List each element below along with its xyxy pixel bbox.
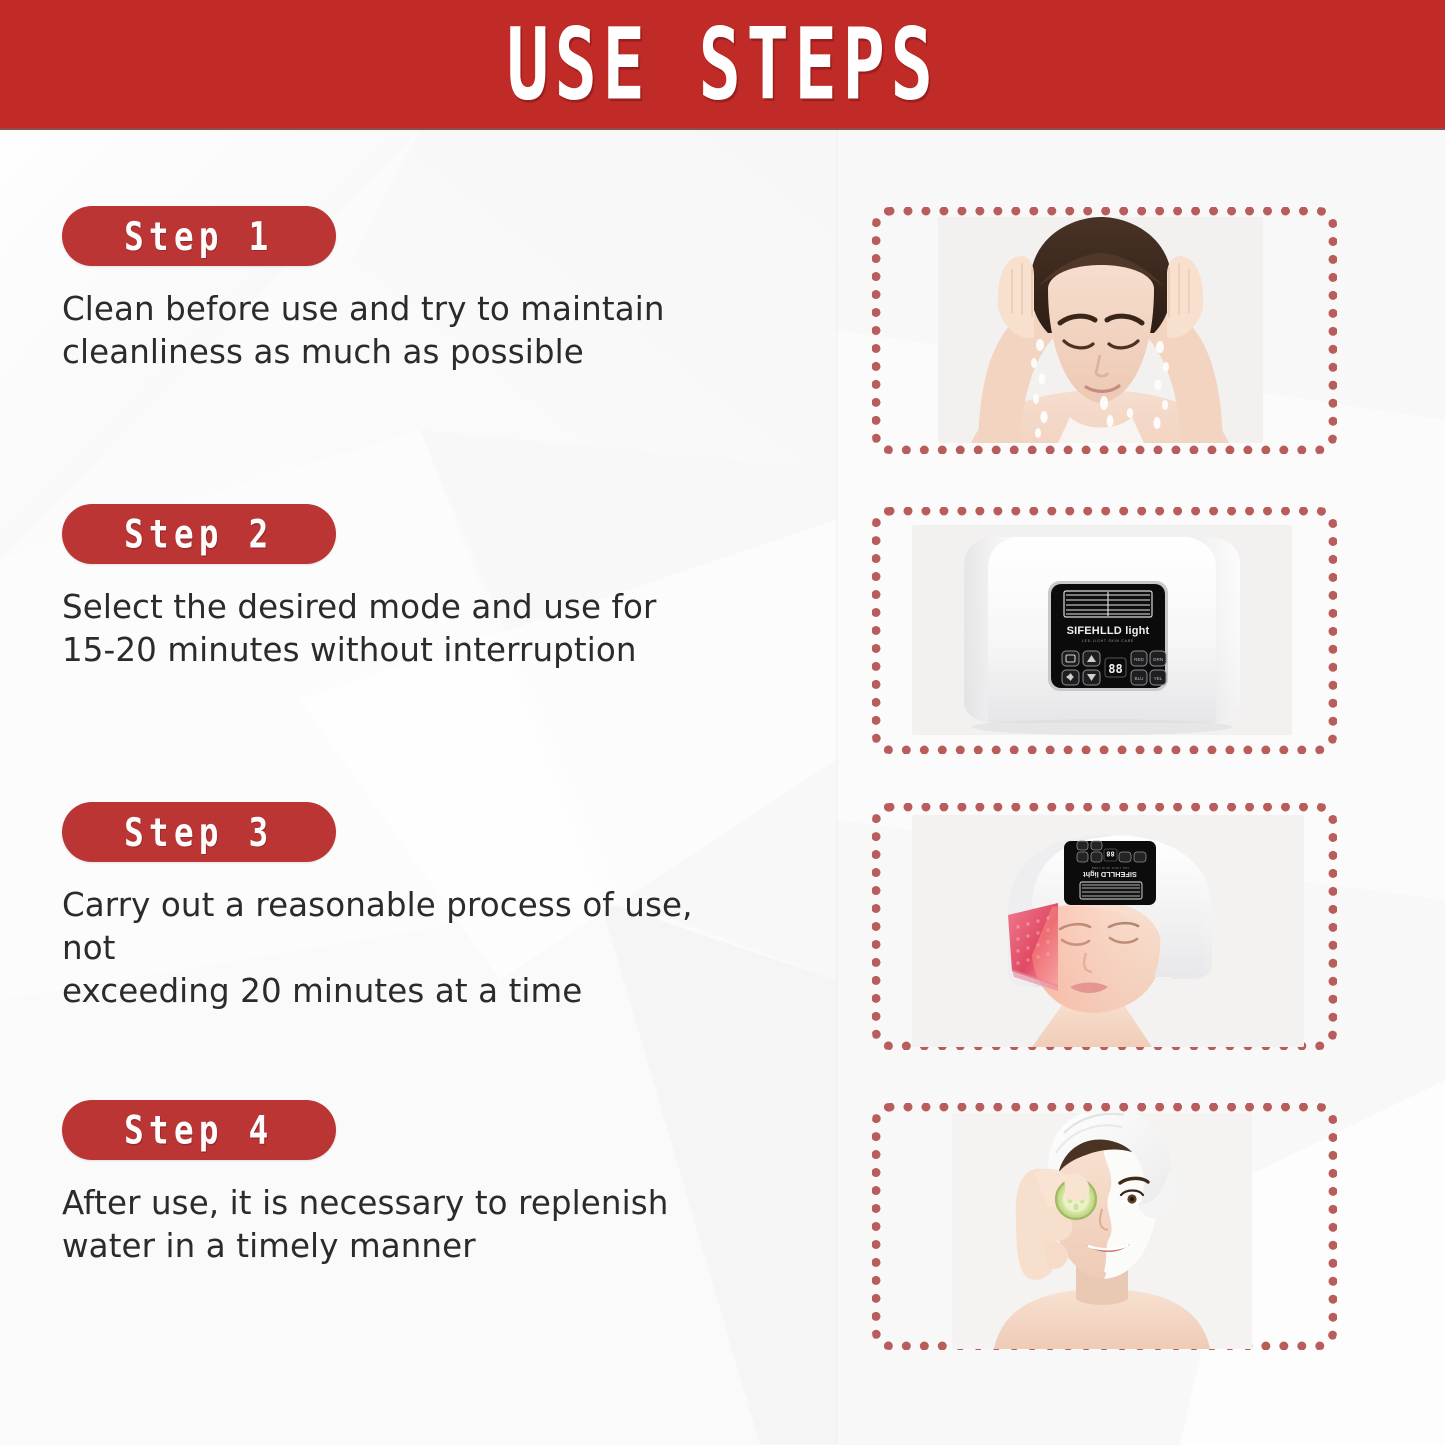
svg-text:BLU: BLU xyxy=(1135,676,1144,681)
photo-led-device: SIFEHLLD light LED LIGHT SKIN CARE xyxy=(912,525,1292,735)
step-item-2: Step 2 Select the desired mode and use f… xyxy=(62,504,782,672)
svg-text:LED LIGHT SKIN CARE: LED LIGHT SKIN CARE xyxy=(1082,639,1134,643)
step-badge-2: Step 2 xyxy=(62,504,336,564)
photo-red-light-therapy: SIFEHLLD light LED LIGHT SKIN CARE 88 xyxy=(912,815,1304,1047)
step-description-line-2: exceeding 20 minutes at a time xyxy=(62,970,722,1013)
header-band: USE STEPS xyxy=(0,0,1445,128)
step-description-1: Clean before use and try to maintain cle… xyxy=(62,288,722,374)
photo-panel-3: SIFEHLLD light LED LIGHT SKIN CARE 88 xyxy=(872,803,1337,1050)
step-description-line-1: Clean before use and try to maintain xyxy=(62,288,722,331)
svg-text:GRN: GRN xyxy=(1153,657,1163,662)
step-description-line-2: water in a timely manner xyxy=(62,1225,722,1268)
svg-text:YEL: YEL xyxy=(1154,676,1163,681)
step-item-4: Step 4 After use, it is necessary to rep… xyxy=(62,1100,782,1268)
step-badge-4: Step 4 xyxy=(62,1100,336,1160)
step-badge-label-3: Step 3 xyxy=(124,809,273,855)
step-badge-label-1: Step 1 xyxy=(124,213,273,259)
step-badge-label-4: Step 4 xyxy=(124,1107,273,1153)
svg-text:88: 88 xyxy=(1106,850,1114,858)
use-steps-infographic: USE STEPS Step 1 Clean before use and tr… xyxy=(0,0,1445,1445)
photo-panel-1 xyxy=(872,207,1337,454)
step-item-3: Step 3 Carry out a reasonable process of… xyxy=(62,802,782,1013)
step-item-1: Step 1 Clean before use and try to maint… xyxy=(62,206,782,374)
page-title: USE STEPS xyxy=(145,0,1301,136)
step-description-line-1: Select the desired mode and use for xyxy=(62,586,722,629)
photo-washing-face xyxy=(938,217,1263,443)
step-badge-1: Step 1 xyxy=(62,206,336,266)
steps-column: Step 1 Clean before use and try to maint… xyxy=(0,128,836,1445)
photo-face-mask-cucumber xyxy=(952,1113,1252,1349)
photo-column: SIFEHLLD light LED LIGHT SKIN CARE xyxy=(836,128,1445,1445)
svg-text:88: 88 xyxy=(1108,662,1122,676)
svg-text:LED LIGHT SKIN CARE: LED LIGHT SKIN CARE xyxy=(1091,866,1129,870)
step-description-line-1: Carry out a reasonable process of use, n… xyxy=(62,884,722,970)
step-description-line-2: 15-20 minutes without interruption xyxy=(62,629,722,672)
step-description-line-2: cleanliness as much as possible xyxy=(62,331,722,374)
svg-text:SIFEHLLD light: SIFEHLLD light xyxy=(1083,870,1137,879)
step-description-3: Carry out a reasonable process of use, n… xyxy=(62,884,722,1013)
step-description-line-1: After use, it is necessary to replenish xyxy=(62,1182,722,1225)
photo-panel-2: SIFEHLLD light LED LIGHT SKIN CARE xyxy=(872,507,1337,754)
step-badge-label-2: Step 2 xyxy=(124,511,273,557)
svg-text:RED: RED xyxy=(1134,657,1144,662)
photo-panel-4 xyxy=(872,1103,1337,1350)
step-badge-3: Step 3 xyxy=(62,802,336,862)
step-description-4: After use, it is necessary to replenish … xyxy=(62,1182,722,1268)
step-description-2: Select the desired mode and use for 15-2… xyxy=(62,586,722,672)
svg-text:SIFEHLLD light: SIFEHLLD light xyxy=(1067,625,1150,637)
